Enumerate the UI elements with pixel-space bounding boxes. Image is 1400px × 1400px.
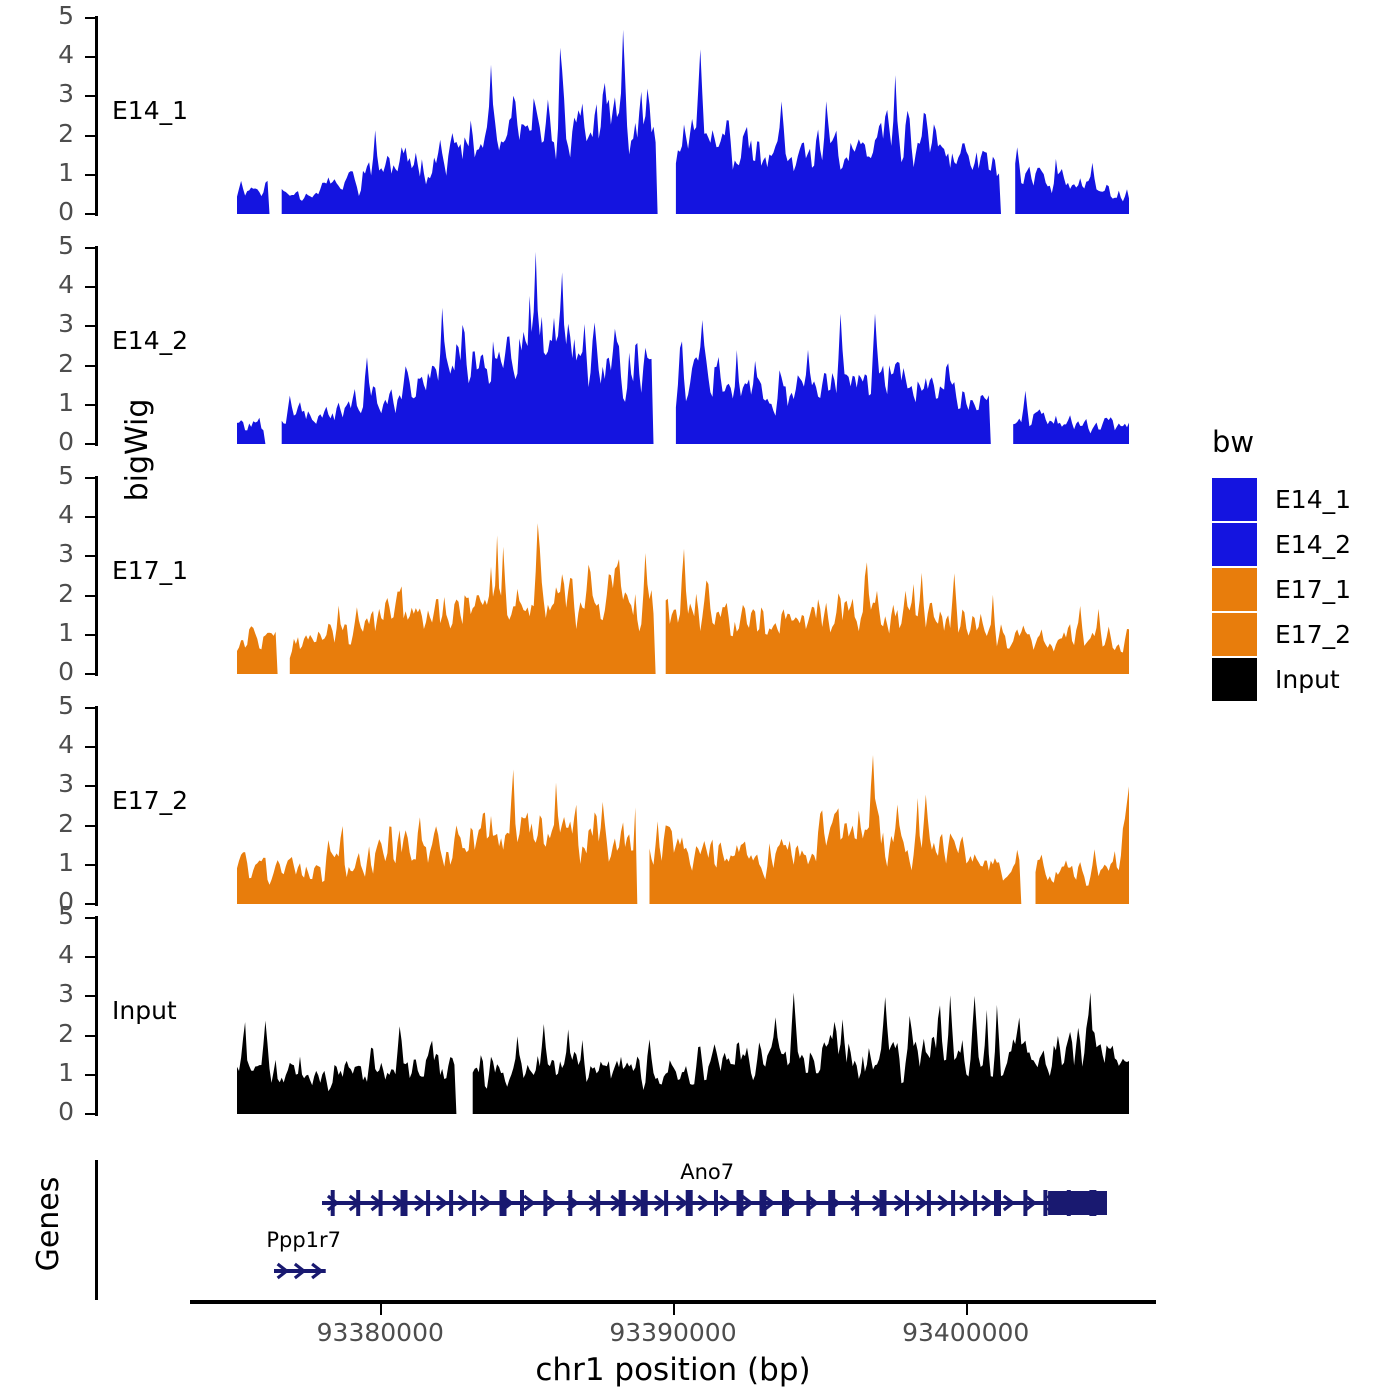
y-tick (85, 17, 95, 19)
legend-item-e14_1[interactable]: E14_1 (1212, 477, 1392, 522)
legend-swatch-icon (1212, 568, 1257, 611)
y-tick (85, 903, 95, 905)
gene-label-ppp1r7: Ppp1r7 (266, 1228, 341, 1252)
y-tick-label: 2 (38, 351, 74, 376)
legend-items: E14_1E14_2E17_1E17_2Input (1212, 477, 1392, 702)
legend-swatch-icon (1212, 613, 1257, 656)
legend-label: E14_1 (1275, 485, 1351, 514)
y-tick (85, 325, 95, 327)
x-tick (966, 1304, 968, 1315)
y-tick-label: 4 (38, 272, 74, 297)
y-tick-label: 5 (38, 3, 74, 28)
y-tick-label: 4 (38, 942, 74, 967)
y-tick-label: 3 (38, 981, 74, 1006)
y-tick-label: 1 (38, 850, 74, 875)
y-tick-label: 0 (38, 429, 74, 454)
x-tick (380, 1304, 382, 1315)
y-tick-label: 2 (38, 1021, 74, 1046)
y-tick (85, 1074, 95, 1076)
y-tick (85, 516, 95, 518)
y-tick (85, 825, 95, 827)
genes-axis-line (95, 1160, 98, 1300)
track-panel-e17_1: 012345E17_1 (0, 478, 1180, 674)
y-tick (85, 95, 95, 97)
y-tick (85, 746, 95, 748)
y-tick-label: 1 (38, 160, 74, 185)
x-tick (673, 1304, 675, 1315)
y-tick-label: 5 (38, 903, 74, 928)
legend-label: E17_1 (1275, 575, 1351, 604)
y-tick (85, 404, 95, 406)
y-tick-label: 0 (38, 659, 74, 684)
track-signal-input (98, 918, 1156, 1114)
gene-model-ano7[interactable] (322, 1180, 1107, 1230)
y-tick (85, 864, 95, 866)
y-tick-label: 2 (38, 121, 74, 146)
track-panel-e14_2: 012345E14_2 (0, 248, 1180, 444)
y-tick-label: 4 (38, 42, 74, 67)
y-tick (85, 365, 95, 367)
y-tick (85, 135, 95, 137)
y-tick (85, 956, 95, 958)
y-tick (85, 174, 95, 176)
legend-item-input[interactable]: Input (1212, 657, 1392, 702)
legend-label: Input (1275, 665, 1340, 694)
legend-label: E14_2 (1275, 530, 1351, 559)
track-signal-e17_2 (98, 708, 1156, 904)
legend-swatch-icon (1212, 658, 1257, 701)
track-signal-e14_2 (98, 248, 1156, 444)
y-tick-label: 3 (38, 81, 74, 106)
y-tick (85, 673, 95, 675)
y-tick (85, 707, 95, 709)
y-tick (85, 555, 95, 557)
y-tick (85, 917, 95, 919)
legend-item-e14_2[interactable]: E14_2 (1212, 522, 1392, 567)
y-tick-label: 3 (38, 311, 74, 336)
y-tick (85, 477, 95, 479)
genes-panel: Ano7Ppp1r7 (0, 1160, 1180, 1300)
y-tick (85, 785, 95, 787)
y-tick-label: 0 (38, 1099, 74, 1124)
x-tick-label: 93400000 (866, 1318, 1066, 1347)
legend-swatch-icon (1212, 523, 1257, 566)
y-tick (85, 1035, 95, 1037)
y-tick (85, 995, 95, 997)
y-tick (85, 56, 95, 58)
gene-model-ppp1r7[interactable] (274, 1248, 326, 1298)
track-panel-input: 012345Input (0, 918, 1180, 1114)
y-tick-label: 5 (38, 463, 74, 488)
x-tick-label: 93390000 (573, 1318, 773, 1347)
y-tick-label: 1 (38, 390, 74, 415)
legend-swatch-icon (1212, 478, 1257, 521)
legend-item-e17_1[interactable]: E17_1 (1212, 567, 1392, 612)
y-tick-label: 3 (38, 541, 74, 566)
track-panel-e14_1: 012345E14_1 (0, 18, 1180, 214)
y-tick-label: 1 (38, 620, 74, 645)
y-tick (85, 286, 95, 288)
y-tick-label: 0 (38, 199, 74, 224)
y-tick (85, 595, 95, 597)
y-tick-label: 2 (38, 811, 74, 836)
track-signal-e17_1 (98, 478, 1156, 674)
track-panel-e17_2: 012345E17_2 (0, 708, 1180, 904)
legend: bw E14_1E14_2E17_1E17_2Input (1212, 425, 1392, 702)
track-signal-e14_1 (98, 18, 1156, 214)
x-axis-title: chr1 position (bp) (190, 1352, 1156, 1388)
y-tick-label: 1 (38, 1060, 74, 1085)
legend-item-e17_2[interactable]: E17_2 (1212, 612, 1392, 657)
y-tick (85, 213, 95, 215)
x-tick-label: 93380000 (280, 1318, 480, 1347)
y-tick (85, 247, 95, 249)
y-tick-label: 2 (38, 581, 74, 606)
y-tick (85, 443, 95, 445)
y-tick (85, 1113, 95, 1115)
y-tick-label: 5 (38, 233, 74, 258)
y-tick-label: 4 (38, 502, 74, 527)
y-tick (85, 634, 95, 636)
y-tick-label: 4 (38, 732, 74, 757)
y-tick-label: 5 (38, 693, 74, 718)
legend-label: E17_2 (1275, 620, 1351, 649)
y-tick-label: 3 (38, 771, 74, 796)
legend-title: bw (1212, 425, 1392, 459)
gene-label-ano7: Ano7 (680, 1160, 734, 1184)
